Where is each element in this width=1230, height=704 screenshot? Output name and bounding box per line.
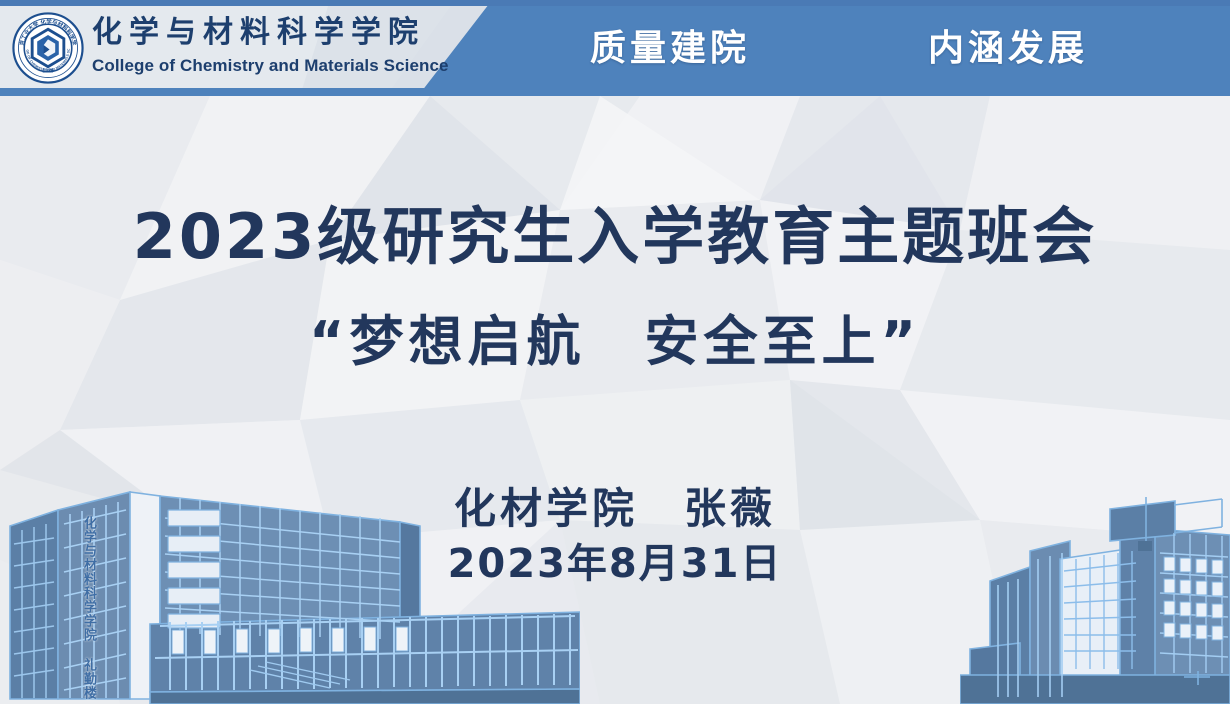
header-slogan-right: 内涵发展 xyxy=(928,26,1088,72)
slide-title-sub: “梦想启航 安全至上” xyxy=(0,306,1230,378)
college-emblem-icon: 北京工业大学 化学与材料科学学院 COLLEGE OF CHEMISTRY AN… xyxy=(12,12,84,84)
presentation-slide: 北京工业大学 化学与材料科学学院 COLLEGE OF CHEMISTRY AN… xyxy=(0,0,1230,704)
slide-title-main: 2023级研究生入学教育主题班会 xyxy=(0,198,1230,276)
header-slogan-left: 质量建院 xyxy=(590,26,750,72)
brand-name-cn: 化学与材料科学学院 xyxy=(92,14,449,52)
slide-header: 北京工业大学 化学与材料科学学院 COLLEGE OF CHEMISTRY AN… xyxy=(0,0,1230,96)
building-facade-text: 化学与材料科学学院 礼勤楼 xyxy=(74,516,96,700)
emblem-founded-year: 1929 xyxy=(42,68,53,74)
brand-block: 化学与材料科学学院 College of Chemistry and Mater… xyxy=(92,14,449,78)
header-top-rule xyxy=(0,0,1230,6)
header-bottom-rule xyxy=(0,88,1230,96)
brand-name-en: College of Chemistry and Materials Scien… xyxy=(92,54,449,78)
campus-building-illustration-right xyxy=(960,489,1230,704)
